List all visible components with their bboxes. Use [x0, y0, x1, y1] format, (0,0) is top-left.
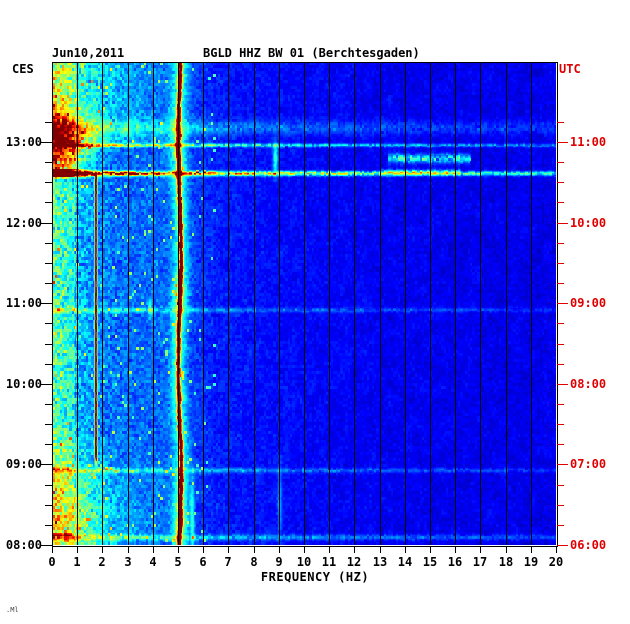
left-axis-tick-label: 10:00: [6, 377, 42, 391]
vertical-gridline: [531, 62, 532, 545]
date-title: Jun10,2011: [52, 46, 124, 60]
left-axis-minor-tick: [45, 162, 52, 163]
x-axis-tick-label: 19: [521, 555, 541, 569]
x-axis-tick: [254, 546, 255, 553]
vertical-gridline: [128, 62, 129, 545]
vertical-gridline: [228, 62, 229, 545]
x-axis-tick: [178, 546, 179, 553]
x-axis-tick: [455, 546, 456, 553]
left-axis-minor-tick: [45, 323, 52, 324]
vertical-gridline: [178, 62, 179, 545]
vertical-gridline: [405, 62, 406, 545]
right-axis-minor-tick: [557, 505, 564, 506]
left-axis-major-tick: [41, 384, 52, 385]
right-axis-minor-tick: [557, 283, 564, 284]
right-axis-minor-tick: [557, 444, 564, 445]
x-axis-tick: [203, 546, 204, 553]
right-axis-minor-tick: [557, 525, 564, 526]
right-axis-tick-label: 08:00: [570, 377, 606, 391]
vertical-gridline: [455, 62, 456, 545]
x-axis-tick-label: 6: [193, 555, 213, 569]
right-axis-tick-label: 07:00: [570, 457, 606, 471]
vertical-gridline: [304, 62, 305, 545]
right-axis-minor-tick: [557, 344, 564, 345]
x-axis-tick: [52, 546, 53, 553]
right-axis-minor-tick: [557, 243, 564, 244]
x-axis-tick-label: 18: [496, 555, 516, 569]
vertical-gridline: [203, 62, 204, 545]
right-axis-minor-tick: [557, 323, 564, 324]
x-axis-tick-label: 13: [370, 555, 390, 569]
vertical-gridline: [354, 62, 355, 545]
right-axis-tick-label: 10:00: [570, 216, 606, 230]
x-axis-tick: [354, 546, 355, 553]
left-axis-minor-tick: [45, 404, 52, 405]
right-axis-minor-tick: [557, 485, 564, 486]
station-title: BGLD HHZ BW 01 (Berchtesgaden): [203, 46, 420, 60]
right-axis-tick-label: 09:00: [570, 296, 606, 310]
x-axis-tick: [430, 546, 431, 553]
right-axis-minor-tick: [557, 202, 564, 203]
right-axis-major-tick: [557, 223, 568, 224]
x-axis-tick-label: 4: [143, 555, 163, 569]
x-axis-tick: [228, 546, 229, 553]
left-axis-minor-tick: [45, 283, 52, 284]
left-axis-minor-tick: [45, 122, 52, 123]
left-axis-tick-label: 08:00: [6, 538, 42, 552]
x-axis-tick-label: 1: [67, 555, 87, 569]
x-axis-tick-label: 8: [244, 555, 264, 569]
left-axis-major-tick: [41, 464, 52, 465]
x-axis-tick-label: 17: [470, 555, 490, 569]
right-axis-minor-tick: [557, 263, 564, 264]
left-axis-minor-tick: [45, 485, 52, 486]
vertical-gridline: [380, 62, 381, 545]
left-axis-minor-tick: [45, 505, 52, 506]
left-axis-tick-label: 09:00: [6, 457, 42, 471]
x-axis-tick-label: 7: [218, 555, 238, 569]
right-axis-minor-tick: [557, 182, 564, 183]
vertical-gridline: [506, 62, 507, 545]
left-axis-minor-tick: [45, 444, 52, 445]
x-axis-tick: [506, 546, 507, 553]
vertical-gridline: [77, 62, 78, 545]
right-axis-minor-tick: [557, 162, 564, 163]
left-axis-major-tick: [41, 303, 52, 304]
x-axis-tick-label: 11: [319, 555, 339, 569]
x-axis-tick: [304, 546, 305, 553]
x-axis-tick: [405, 546, 406, 553]
vertical-gridline: [153, 62, 154, 545]
x-axis-tick: [380, 546, 381, 553]
left-axis-timezone-label: CES: [12, 62, 34, 76]
left-axis-tick-label: 11:00: [6, 296, 42, 310]
vertical-gridline: [430, 62, 431, 545]
corner-artifact: .Ml: [6, 606, 19, 614]
right-axis-tick-label: 11:00: [570, 135, 606, 149]
right-axis-minor-tick: [557, 424, 564, 425]
x-axis-tick: [480, 546, 481, 553]
left-axis-tick-label: 13:00: [6, 135, 42, 149]
left-axis-minor-tick: [45, 344, 52, 345]
x-axis-tick-label: 2: [92, 555, 112, 569]
right-axis-major-tick: [557, 303, 568, 304]
right-axis-major-tick: [557, 384, 568, 385]
x-axis-tick-label: 9: [269, 555, 289, 569]
right-axis-major-tick: [557, 464, 568, 465]
vertical-gridline: [102, 62, 103, 545]
x-axis-tick-label: 14: [395, 555, 415, 569]
left-axis-major-tick: [41, 142, 52, 143]
x-axis-tick-label: 5: [168, 555, 188, 569]
right-axis-major-tick: [557, 142, 568, 143]
left-axis-tick-label: 12:00: [6, 216, 42, 230]
x-axis-tick-label: 16: [445, 555, 465, 569]
spectrogram-page: Jun10,2011 BGLD HHZ BW 01 (Berchtesgaden…: [0, 0, 630, 624]
right-axis-minor-tick: [557, 404, 564, 405]
vertical-gridline: [254, 62, 255, 545]
left-axis-minor-tick: [45, 364, 52, 365]
x-axis-tick: [329, 546, 330, 553]
right-axis-minor-tick: [557, 122, 564, 123]
vertical-gridline: [279, 62, 280, 545]
x-axis-tick-label: 20: [546, 555, 566, 569]
x-axis-tick: [77, 546, 78, 553]
x-axis-tick: [128, 546, 129, 553]
x-axis-tick-label: 3: [118, 555, 138, 569]
right-axis-timezone-label: UTC: [559, 62, 581, 76]
vertical-gridline: [329, 62, 330, 545]
x-axis-tick: [153, 546, 154, 553]
left-axis-minor-tick: [45, 424, 52, 425]
x-axis-tick: [279, 546, 280, 553]
x-axis-tick: [556, 546, 557, 553]
right-axis-minor-tick: [557, 364, 564, 365]
x-axis-title: FREQUENCY (HZ): [0, 570, 630, 584]
x-axis-tick: [102, 546, 103, 553]
x-axis-tick-label: 10: [294, 555, 314, 569]
left-axis-major-tick: [41, 223, 52, 224]
left-axis-minor-tick: [45, 243, 52, 244]
x-axis-tick: [531, 546, 532, 553]
left-axis-minor-tick: [45, 182, 52, 183]
vertical-gridline: [480, 62, 481, 545]
right-axis-major-tick: [557, 545, 568, 546]
x-axis-tick-label: 0: [42, 555, 62, 569]
left-axis-minor-tick: [45, 263, 52, 264]
left-axis-major-tick: [41, 545, 52, 546]
left-axis-minor-tick: [45, 202, 52, 203]
x-axis-tick-label: 12: [344, 555, 364, 569]
right-axis-tick-label: 06:00: [570, 538, 606, 552]
x-axis-tick-label: 15: [420, 555, 440, 569]
left-axis-minor-tick: [45, 525, 52, 526]
